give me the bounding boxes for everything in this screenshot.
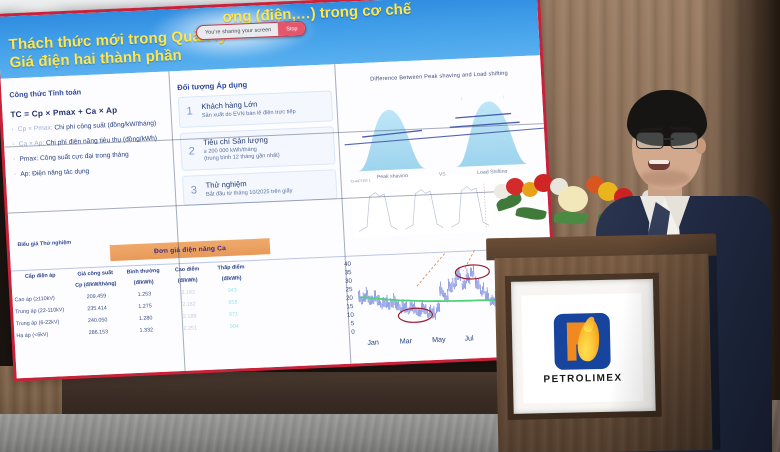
- load-spike: [429, 307, 430, 317]
- load-spike: [455, 278, 456, 287]
- stop-sharing-button[interactable]: Stop: [278, 22, 306, 36]
- card-subtitle: ≥ 200 000 kWh/tháng (trung bình 12 tháng…: [204, 143, 329, 163]
- table-cell: 1.332: [124, 324, 169, 338]
- tariff-formula: TC = Cp × Pmax + Ca × Ap: [10, 104, 164, 120]
- bell-peak-shaving: [355, 108, 426, 171]
- petrolimex-flame-icon: [554, 312, 611, 369]
- load-spike: [375, 290, 376, 301]
- bullet-dot: ·: [13, 155, 16, 164]
- bullet-text: Cp × Pmax: Chi phí công suất (đồng/kW/th…: [18, 119, 157, 134]
- y-tick-label: 0: [351, 329, 355, 336]
- load-spike: [434, 306, 435, 317]
- load-spike: [378, 295, 379, 305]
- carpet-floor: [0, 414, 560, 452]
- load-spike: [402, 300, 403, 311]
- formula-bullet: ·Ap: Điện năng tác dụng: [13, 164, 167, 180]
- load-spike: [368, 290, 369, 303]
- load-spike: [374, 290, 375, 301]
- formula-bullet-list: ·Cp × Pmax: Chi phí công suất (đồng/kW/t…: [11, 119, 168, 180]
- glasses-bridge: [664, 138, 674, 140]
- load-spike: [452, 282, 453, 292]
- lens-right: [670, 132, 698, 149]
- load-spike: [476, 278, 477, 289]
- load-spike: [464, 279, 465, 289]
- podium: PETROLIMEX: [486, 234, 720, 452]
- price-table-caption: Biểu giá Thử nghiệm: [17, 240, 71, 248]
- load-spike: [438, 302, 439, 312]
- bullet-text: Ap: Điện năng tác dụng: [20, 167, 89, 179]
- load-spike: [433, 308, 434, 318]
- bullet-dot: ·: [13, 170, 16, 179]
- load-spike: [396, 301, 397, 310]
- price-table-header-cell: Giá công suấtCp (đ/kW/tháng): [69, 267, 122, 292]
- load-spike: [468, 273, 469, 283]
- load-spike: [404, 303, 405, 313]
- load-spike: [479, 278, 480, 288]
- x-tick-label: Jul: [464, 333, 474, 342]
- sparkline-marker: [484, 184, 486, 228]
- screen-surface: ợng (điện,…) trong cơ chế Thách thức mới…: [0, 0, 556, 378]
- load-spike: [440, 286, 441, 296]
- load-spike: [360, 290, 361, 302]
- load-spike: [430, 305, 431, 316]
- load-spike: [398, 301, 399, 310]
- load-spike: [448, 279, 449, 291]
- eyeglasses-icon: [632, 132, 706, 150]
- arrow-up-icon: ↑: [502, 95, 505, 101]
- load-spike: [405, 302, 406, 312]
- leaf: [515, 205, 547, 222]
- presentation-video-wall: ợng (điện,…) trong cơ chế Thách thức mới…: [0, 0, 559, 381]
- load-spike: [414, 300, 415, 312]
- petrolimex-wordmark: PETROLIMEX: [543, 372, 622, 385]
- card-number: 1: [186, 106, 193, 118]
- formula-heading: Công thức Tính toán: [9, 84, 163, 100]
- load-spike: [453, 278, 454, 287]
- x-tick-label: Jan: [367, 338, 379, 347]
- card-number: 2: [188, 145, 195, 157]
- load-spike: [458, 270, 459, 280]
- load-spike: [480, 284, 481, 294]
- load-spike: [440, 282, 441, 295]
- x-tick-label: May: [432, 335, 446, 345]
- callout-arrow: [415, 254, 447, 287]
- leaf: [553, 210, 588, 225]
- bullet-text: Pmax: Công suất cực đại trong tháng: [19, 150, 129, 164]
- table-cell: Hạ áp (<6kV): [14, 328, 73, 343]
- card-number: 3: [190, 184, 197, 196]
- price-table-header-cell: Cấp điện áp: [11, 269, 70, 284]
- screenshot-root: ợng (điện,…) trong cơ chế Thách thức mới…: [0, 0, 780, 452]
- applicability-card[interactable]: 3Thử nghiệmBắt đầu từ tháng 10/2025 trên…: [182, 169, 338, 206]
- petrolimex-logo: PETROLIMEX: [521, 293, 643, 403]
- slide-body: Công thức Tính toán TC = Cp × Pmax + Ca …: [1, 55, 557, 378]
- load-spike: [377, 296, 378, 306]
- load-spike: [483, 282, 484, 293]
- applicability-card-list: 1Khách hàng LớnSản xuất do EVN bán lẻ đi…: [178, 90, 338, 206]
- load-spike: [395, 296, 396, 309]
- screen-share-message: You're sharing your screen: [197, 26, 279, 35]
- formula-bullet: ·Cp × Pmax: Chi phí công suất (đồng/kW/t…: [11, 119, 165, 135]
- formula-bullet: ·Pmax: Công suất cực đại trong tháng: [13, 149, 167, 165]
- bullet-dot: ·: [11, 125, 14, 134]
- bullet-dot: ·: [12, 140, 15, 149]
- load-spike: [406, 301, 407, 312]
- load-spike: [456, 275, 457, 286]
- table-cell: 286.153: [72, 326, 125, 340]
- price-table-header-cell: Bình thường(đ/kWh): [121, 265, 166, 290]
- y-tick-label: 5: [351, 320, 355, 327]
- arrow-up-icon: ↑: [460, 97, 463, 103]
- peak-shaving-chart-title: Difference Between Peak shaving and Load…: [343, 69, 535, 83]
- flower-cream-large: [558, 186, 588, 212]
- applicability-card[interactable]: 1Khách hàng LớnSản xuất do EVN bán lẻ đi…: [178, 90, 334, 127]
- load-spike: [379, 295, 380, 305]
- load-spike: [411, 301, 412, 311]
- applicability-heading: Đối tượng Áp dụng: [177, 76, 331, 92]
- load-spike: [387, 295, 388, 307]
- load-spike: [473, 265, 474, 275]
- lens-left: [636, 132, 664, 149]
- load-spike: [448, 289, 449, 300]
- x-tick-label: Mar: [399, 336, 412, 346]
- bell-load-shifting: [452, 100, 527, 167]
- load-spike: [449, 282, 450, 292]
- chin-shadow: [640, 170, 690, 186]
- teeth: [649, 160, 669, 164]
